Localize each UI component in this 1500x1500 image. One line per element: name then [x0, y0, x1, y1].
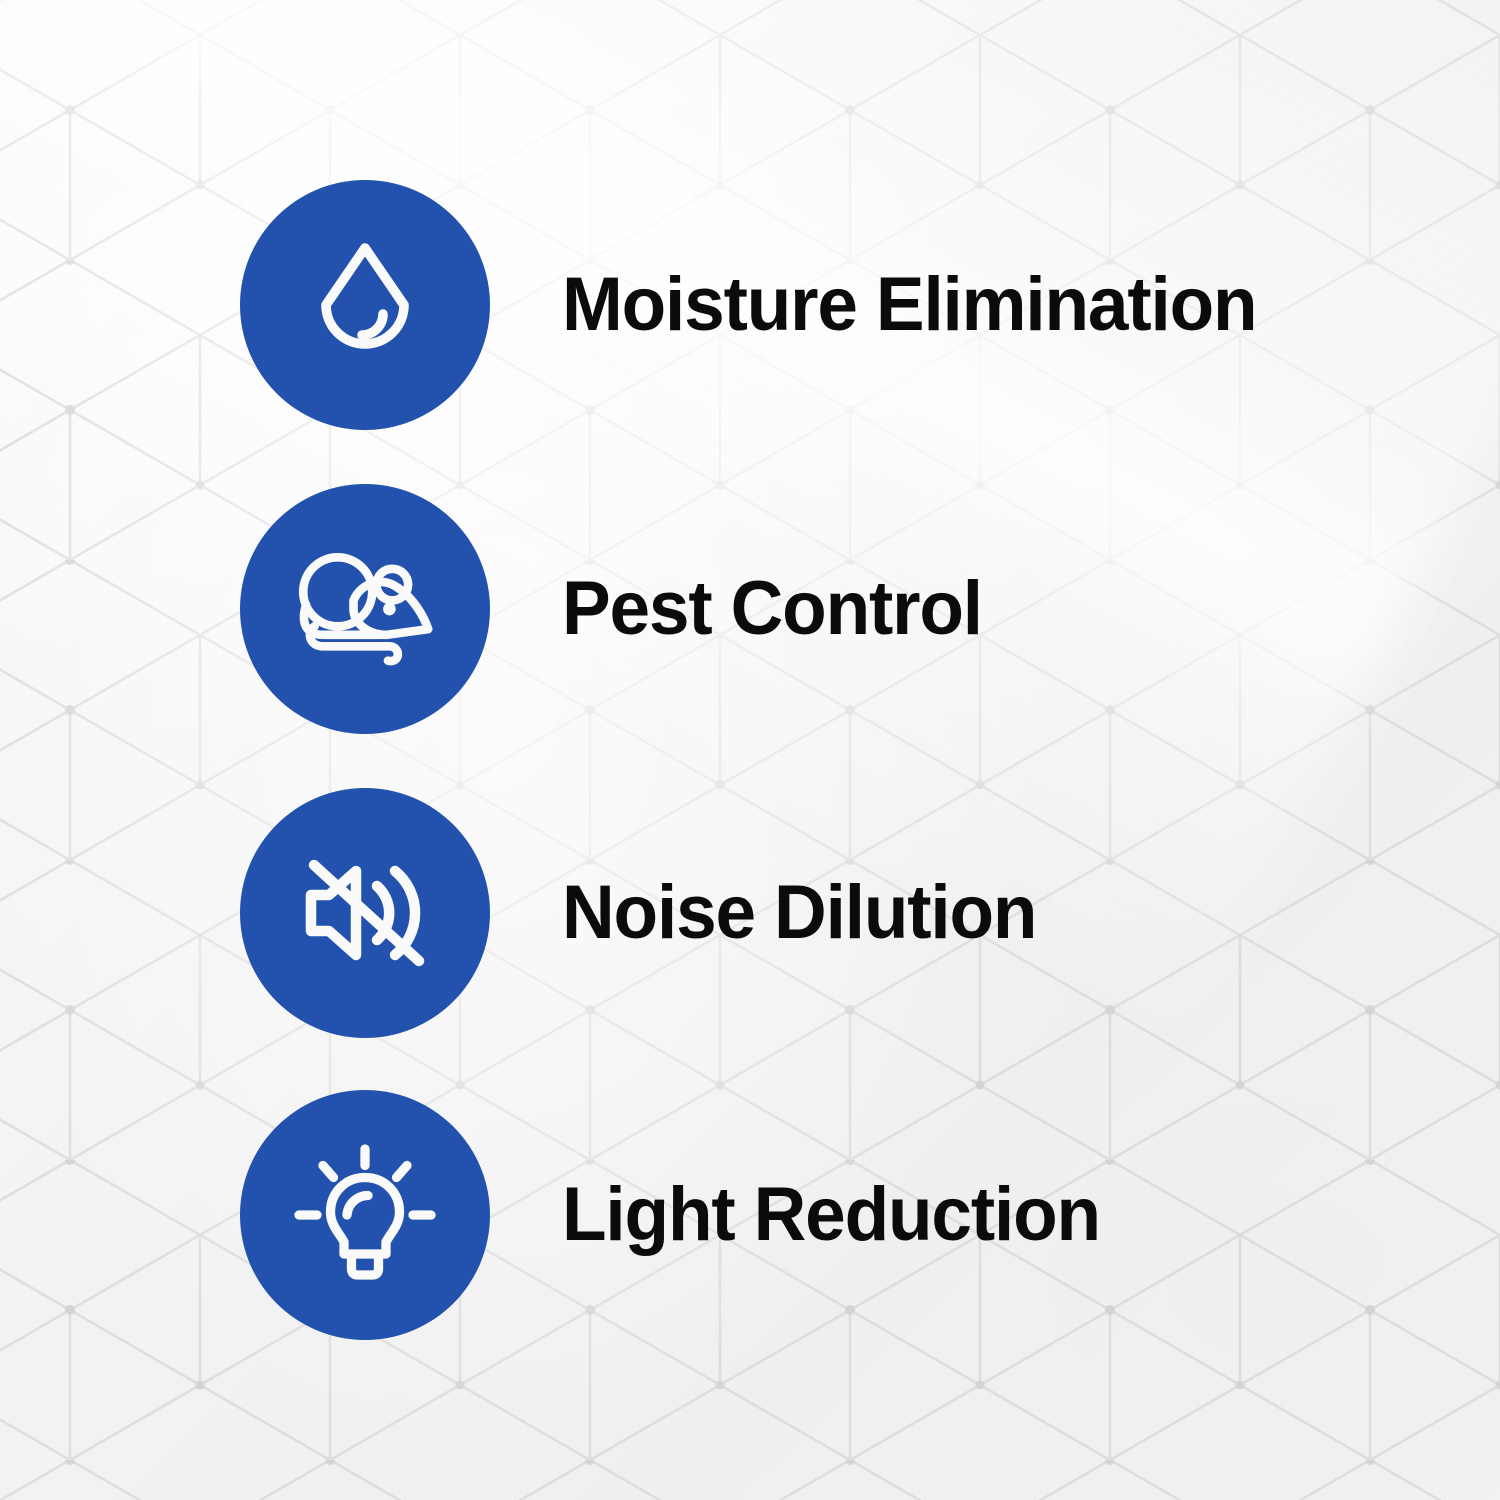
feature-item-noise-dilution[interactable]: Noise Dilution — [240, 788, 1056, 1038]
icon-badge-moisture-elimination — [240, 180, 490, 430]
feature-label-pest-control: Pest Control — [562, 571, 982, 647]
feature-infographic: Moisture Elimination — [0, 0, 1500, 1500]
speaker-mute-icon — [290, 838, 440, 988]
feature-item-pest-control[interactable]: Pest Control — [240, 484, 999, 734]
feature-label-noise-dilution: Noise Dilution — [562, 875, 1036, 951]
icon-badge-noise-dilution — [240, 788, 490, 1038]
feature-label-light-reduction: Light Reduction — [562, 1177, 1100, 1253]
feature-item-light-reduction[interactable]: Light Reduction — [240, 1090, 1122, 1340]
light-bulb-icon — [290, 1140, 440, 1290]
icon-badge-light-reduction — [240, 1090, 490, 1340]
feature-item-moisture-elimination[interactable]: Moisture Elimination — [240, 180, 1285, 430]
icon-badge-pest-control — [240, 484, 490, 734]
water-drop-icon — [290, 230, 440, 380]
mouse-rodent-icon — [286, 530, 444, 688]
feature-list: Moisture Elimination — [0, 0, 1500, 1500]
feature-label-moisture-elimination: Moisture Elimination — [562, 267, 1256, 343]
